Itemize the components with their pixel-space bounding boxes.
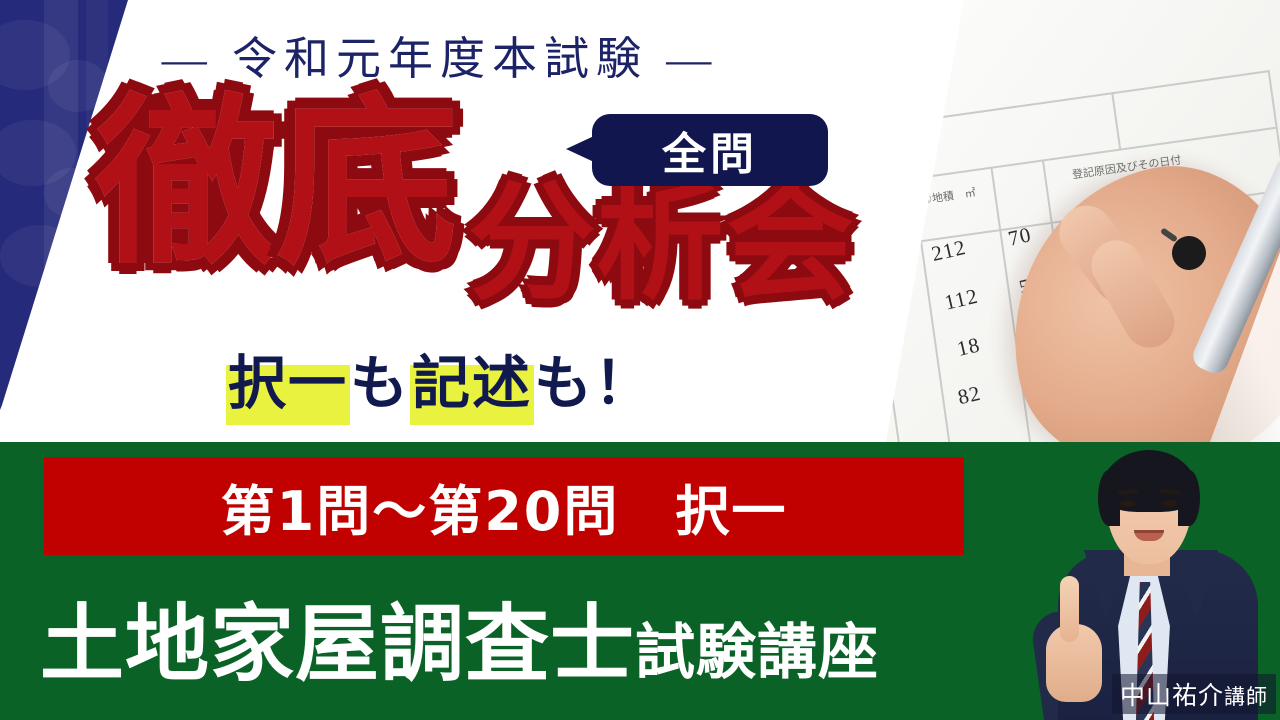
pointing-finger-icon (1060, 576, 1079, 642)
instructor-eye (1120, 500, 1135, 507)
subtitle-part: も (350, 349, 410, 417)
registry-form-photo: 一丁目 ①地積 ㎡ 登記原因及びその日付 212 70 112 51 18 72… (860, 0, 1280, 442)
instructor-photo: 中山祐介講師 (1020, 442, 1280, 720)
thumbnail-canvas: 一丁目 ①地積 ㎡ 登記原因及びその日付 212 70 112 51 18 72… (0, 0, 1280, 720)
title-char-3: 分 (468, 180, 596, 308)
bubble-tail-icon (566, 136, 594, 162)
instructor-eye (1162, 500, 1177, 507)
handwritten-value: 18 (955, 332, 983, 362)
handwritten-value: 112 (942, 284, 980, 316)
title-char-2: 底 (276, 92, 458, 274)
handwritten-value: 82 (955, 381, 983, 411)
form-header-area: ①地積 ㎡ (921, 184, 977, 207)
course-title-sub: 試験講座 (635, 618, 879, 688)
navy-blob (44, 168, 100, 218)
question-range-banner: 第1問～第20問 択一 (44, 457, 964, 555)
instructor-title: 講師 (1224, 685, 1268, 709)
form-gridline (860, 70, 1270, 130)
course-title: 土地家屋調査士試験講座 (40, 577, 879, 698)
badge-label: 全問 (662, 118, 758, 182)
form-gridline (1111, 92, 1121, 150)
title-char-5: 会 (726, 180, 854, 308)
subtitle-part-highlight: 択一 (226, 336, 350, 420)
course-title-main: 土地家屋調査士 (40, 595, 635, 693)
question-range-label: 第1問～第20問 択一 (221, 467, 788, 546)
instructor-hair (1178, 470, 1200, 526)
title-char-4: 析 (596, 180, 724, 308)
navy-blob (0, 225, 80, 287)
title-char-1: 徹 (96, 92, 278, 274)
instructor-name: 中山祐介 (1120, 681, 1224, 710)
instructor-hair (1098, 470, 1120, 526)
all-questions-badge: 全問 (592, 114, 828, 186)
subtitle: 択一も記述も！ (0, 336, 880, 420)
top-panel: 一丁目 ①地積 ㎡ 登記原因及びその日付 212 70 112 51 18 72… (0, 0, 1280, 442)
subtitle-part-highlight: 記述 (410, 336, 534, 420)
instructor-name-tag: 中山祐介講師 (1112, 674, 1276, 714)
subtitle-part: も！ (534, 349, 654, 417)
